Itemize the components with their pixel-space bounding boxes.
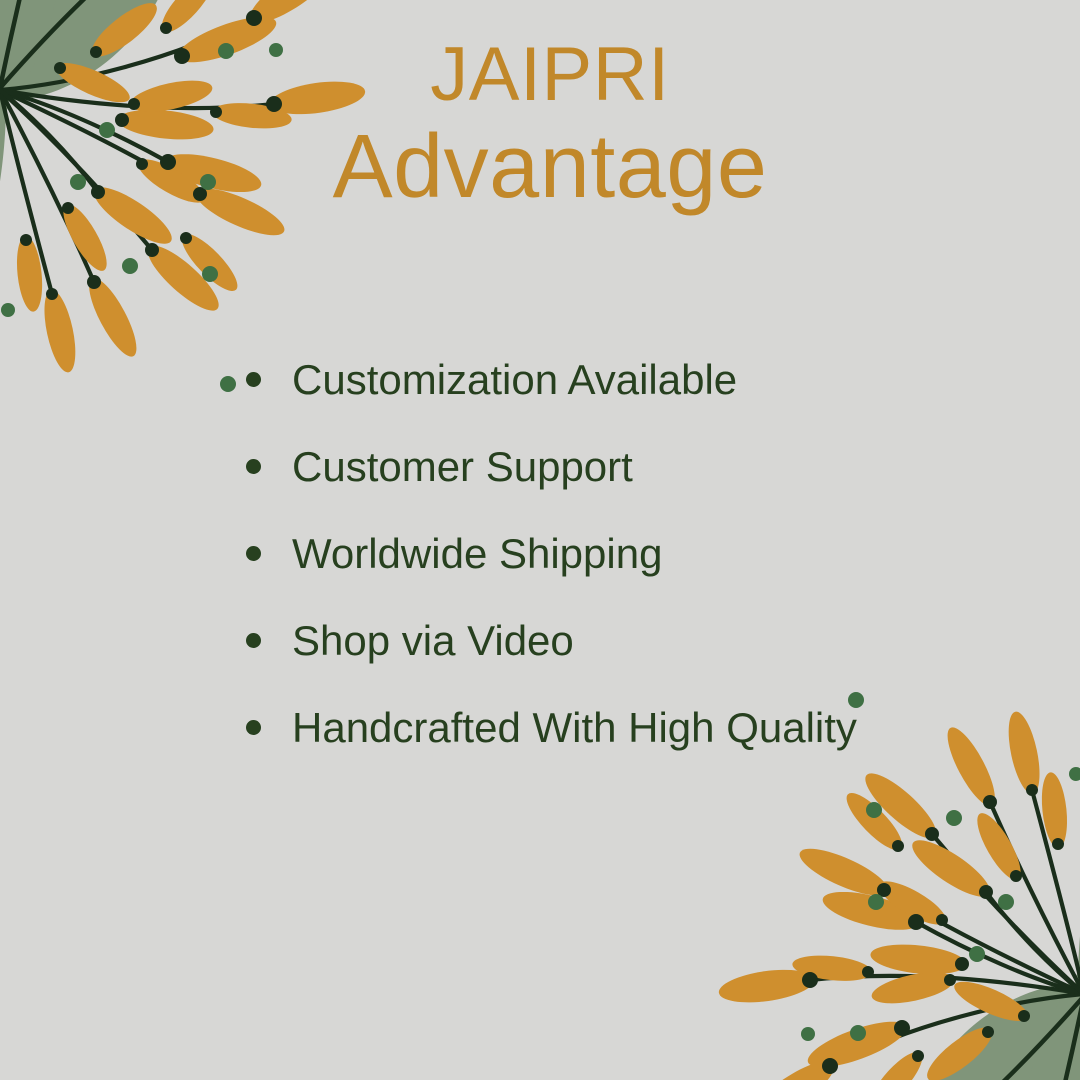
ochre-leaf-bases xyxy=(802,784,1064,1080)
poster-canvas: JAIPRI Advantage Customization Available… xyxy=(0,0,1080,1080)
advantage-list: Customization Available Customer Support… xyxy=(246,336,857,771)
list-item: Customer Support xyxy=(246,423,857,510)
list-item: Shop via Video xyxy=(246,597,857,684)
bullet-icon xyxy=(246,633,261,648)
brand-name: JAIPRI xyxy=(20,34,1080,116)
advantage-label: Shop via Video xyxy=(292,620,574,662)
bullet-icon xyxy=(246,459,261,474)
advantage-label: Customization Available xyxy=(292,359,737,401)
title-subtitle: Advantage xyxy=(20,116,1080,219)
advantage-label: Customer Support xyxy=(292,446,633,488)
bullet-icon xyxy=(246,372,261,387)
bullet-icon xyxy=(246,720,261,735)
page-title: JAIPRI Advantage xyxy=(0,34,1080,219)
list-item: Handcrafted With High Quality xyxy=(246,684,857,771)
advantage-label: Handcrafted With High Quality xyxy=(292,707,857,749)
list-item: Worldwide Shipping xyxy=(246,510,857,597)
list-item: Customization Available xyxy=(246,336,857,423)
bullet-icon xyxy=(246,546,261,561)
sage-leaf-cluster xyxy=(909,789,1080,1080)
advantage-label: Worldwide Shipping xyxy=(292,533,662,575)
